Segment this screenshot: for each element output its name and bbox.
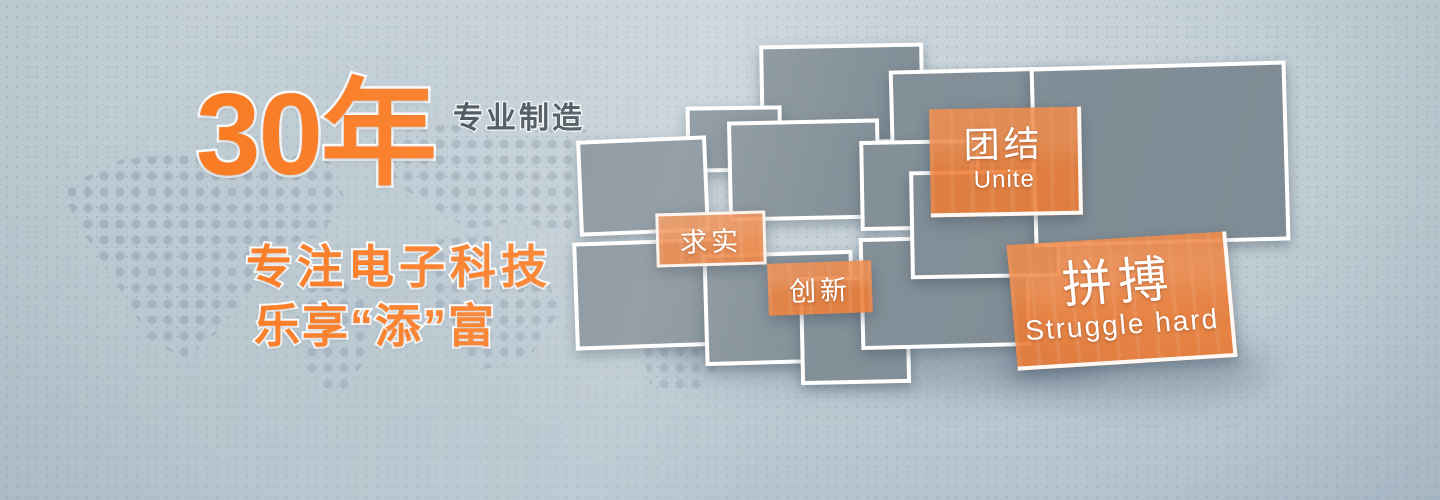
hero-banner: 30年专业制造 专注电子科技 乐享“添”富 bbox=[0, 0, 1440, 500]
value-panel-struggle-cn: 拼搏 bbox=[1060, 254, 1176, 312]
value-panel-unite-cn: 团结 bbox=[963, 125, 1044, 164]
slogan-line-2: 乐享“添”富 bbox=[246, 297, 552, 356]
value-tag-qiushi[interactable]: 求实 bbox=[655, 210, 766, 267]
slogan-block: 专注电子科技 乐享“添”富 bbox=[246, 238, 552, 356]
photo-collage: 求实 创新 团结 Unite 拼搏 Struggle hard bbox=[560, 40, 1320, 420]
years-unit: 年 bbox=[321, 76, 435, 192]
value-panel-struggle-en: Struggle hard bbox=[1024, 303, 1221, 347]
value-tag-qiushi-label: 求实 bbox=[679, 219, 742, 260]
value-panel-unite[interactable]: 团结 Unite bbox=[929, 107, 1083, 218]
value-panel-unite-en: Unite bbox=[974, 165, 1036, 194]
value-tag-chuangxin-label: 创新 bbox=[788, 267, 851, 308]
years-number: 30 bbox=[196, 76, 321, 192]
photo-production-line-aisle bbox=[727, 118, 881, 221]
slogan-line-1: 专注电子科技 bbox=[246, 238, 552, 297]
value-tag-chuangxin[interactable]: 创新 bbox=[767, 260, 873, 316]
value-panel-struggle[interactable]: 拼搏 Struggle hard bbox=[1006, 231, 1237, 370]
headline-block: 30年专业制造 bbox=[196, 76, 585, 192]
